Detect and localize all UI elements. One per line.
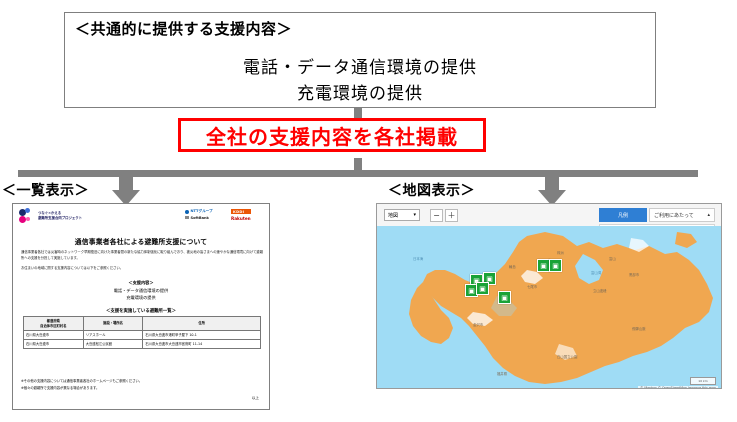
common-support-header: ＜共通的に提供する支援内容＞	[75, 18, 292, 39]
chevron-up-icon: ▴	[707, 212, 710, 218]
table-column-header: 住所	[143, 317, 261, 331]
map-shelter-marker[interactable]: ▣	[549, 259, 562, 272]
table-cell: 石川県大島連市大島連市宮府町 11-14	[143, 340, 261, 349]
map-place-label: 日本海	[413, 256, 423, 261]
map-place-label: 金沢市	[473, 322, 483, 327]
common-support-line-1: 電話・データ通信環境の提供	[65, 53, 655, 78]
map-view-panel[interactable]: 地図 ▾ − ＋ 凡例 ご利用にあたって ▴ 2025年01月10日 午後0時0…	[376, 203, 722, 389]
table-column-header: 施設・場所名	[83, 317, 143, 331]
table-cell: 石川県大島連市港町甲子屋下 10-1	[143, 331, 261, 340]
document-paragraph-1: 通信事業者各社では災害時のネットワーク早期復旧に向けた事業者間の新たな協力体制強…	[21, 250, 263, 261]
project-logo-icon	[19, 208, 35, 224]
map-place-label: 福井県	[497, 371, 507, 376]
table-cell: 石川県大島連市	[24, 331, 84, 340]
support-content-line-2: 充電環境の提供	[13, 295, 269, 301]
tab-usage-notes-label: ご利用にあたって	[654, 212, 694, 219]
project-logo-text: つなぐ×かえる 避難所支援合同プロジェクト	[38, 211, 82, 220]
table-header-row: 都道府県自治体市区町村名施設・場所名住所	[24, 317, 261, 331]
connector-left-branch	[18, 170, 126, 177]
common-support-box: ＜共通的に提供する支援内容＞ 電話・データ通信環境の提供 充電環境の提供	[64, 12, 656, 108]
tab-usage-notes[interactable]: ご利用にあたって ▴	[649, 208, 715, 222]
common-support-line-2: 充電環境の提供	[65, 79, 655, 104]
map-canvas[interactable]: 輪島珠洲七尾市富山湾富山黒部市立山連峰金沢市白山国立公園飛騨山脈福井県日本海 ▣…	[377, 226, 721, 389]
map-place-label: 七尾市	[527, 284, 537, 289]
table-cell: 大島連松江公民館	[83, 340, 143, 349]
carrier-logo-rakuten: Rakuten	[231, 216, 251, 221]
document-note-2: ※個々の避難所で支援内容が異なる場合があります。	[21, 386, 99, 391]
document-end-mark: 以上	[252, 396, 259, 401]
carrier-logos-kddi-rakuten: KDDI Rakuten	[231, 209, 251, 221]
map-layer-select-value: 地図	[388, 212, 398, 219]
document-paragraph-2: お住まいの地域に関する支援内容については以下をご参照ください。	[21, 266, 263, 272]
map-scale-bar: 10 km	[690, 377, 716, 385]
caption-list-view: ＜一覧表示＞	[2, 180, 89, 200]
table-cell: 石川県大島連市	[24, 340, 84, 349]
map-place-label: 飛騨山脈	[632, 326, 646, 331]
support-content-line-1: 電話・データ通信環境の提供	[13, 288, 269, 294]
map-layer-select[interactable]: 地図 ▾	[384, 209, 420, 221]
carrier-logos-ntt-softbank: NTTグループ SoftBank	[185, 209, 213, 220]
map-place-label: 黒部市	[629, 272, 639, 277]
list-view-document[interactable]: つなぐ×かえる 避難所支援合同プロジェクト NTTグループ SoftBank K…	[12, 203, 270, 410]
map-landmass	[377, 226, 721, 389]
map-place-label: 珠洲	[557, 250, 564, 255]
carrier-logo-softbank: SoftBank	[185, 216, 213, 220]
caption-map-view: ＜地図表示＞	[388, 180, 475, 200]
map-place-label: 立山連峰	[593, 288, 607, 293]
map-shelter-marker[interactable]: ▣	[476, 282, 489, 295]
table-cell: リアスホール	[83, 331, 143, 340]
map-place-label: 富山湾	[591, 270, 601, 275]
shelter-table: 都道府県自治体市区町村名施設・場所名住所 石川県大島連市リアスホール石川県大島連…	[23, 316, 261, 349]
carrier-logo-ntt: NTTグループ	[185, 209, 213, 214]
project-logo: つなぐ×かえる 避難所支援合同プロジェクト	[19, 208, 82, 224]
document-title: 通信事業者各社による避難所支援について	[13, 236, 269, 246]
zoom-in-button[interactable]: ＋	[445, 209, 458, 222]
map-shelter-marker[interactable]: ▣	[498, 291, 511, 304]
document-logo-bar: つなぐ×かえる 避難所支援合同プロジェクト NTTグループ SoftBank K…	[13, 204, 269, 230]
map-place-label: 輪島	[509, 264, 516, 269]
table-row: 石川県大島連市リアスホール石川県大島連市港町甲子屋下 10-1	[24, 331, 261, 340]
emphasis-box: 全社の支援内容を各社掲載	[178, 118, 486, 152]
map-place-label: 富山	[609, 256, 616, 261]
map-attribution[interactable]: © Mapbox © OpenStreetMap Improve this ma…	[638, 386, 718, 390]
carrier-logo-kddi: KDDI	[231, 209, 251, 214]
map-place-label: 白山国立公園	[557, 354, 577, 359]
tab-legend[interactable]: 凡例	[599, 208, 647, 222]
emphasis-label: 全社の支援内容を各社掲載	[206, 121, 458, 150]
document-note-1: ※その他の支援内容については通信事業者各社のホームページもご参照ください。	[21, 379, 142, 384]
connector-middle	[354, 158, 362, 170]
softbank-mark-icon	[185, 216, 189, 219]
table-column-header: 都道府県自治体市区町村名	[24, 317, 84, 331]
ntt-mark-icon	[185, 210, 189, 214]
table-row: 石川県大島連市大島連松江公民館石川県大島連市大島連市宮府町 11-14	[24, 340, 261, 349]
shelter-table-heading: ＜支援を実施している避難所一覧＞	[13, 308, 269, 314]
zoom-out-button[interactable]: −	[430, 209, 443, 222]
chevron-down-icon: ▾	[413, 212, 416, 218]
support-content-heading: ＜支援内容＞	[13, 280, 269, 286]
